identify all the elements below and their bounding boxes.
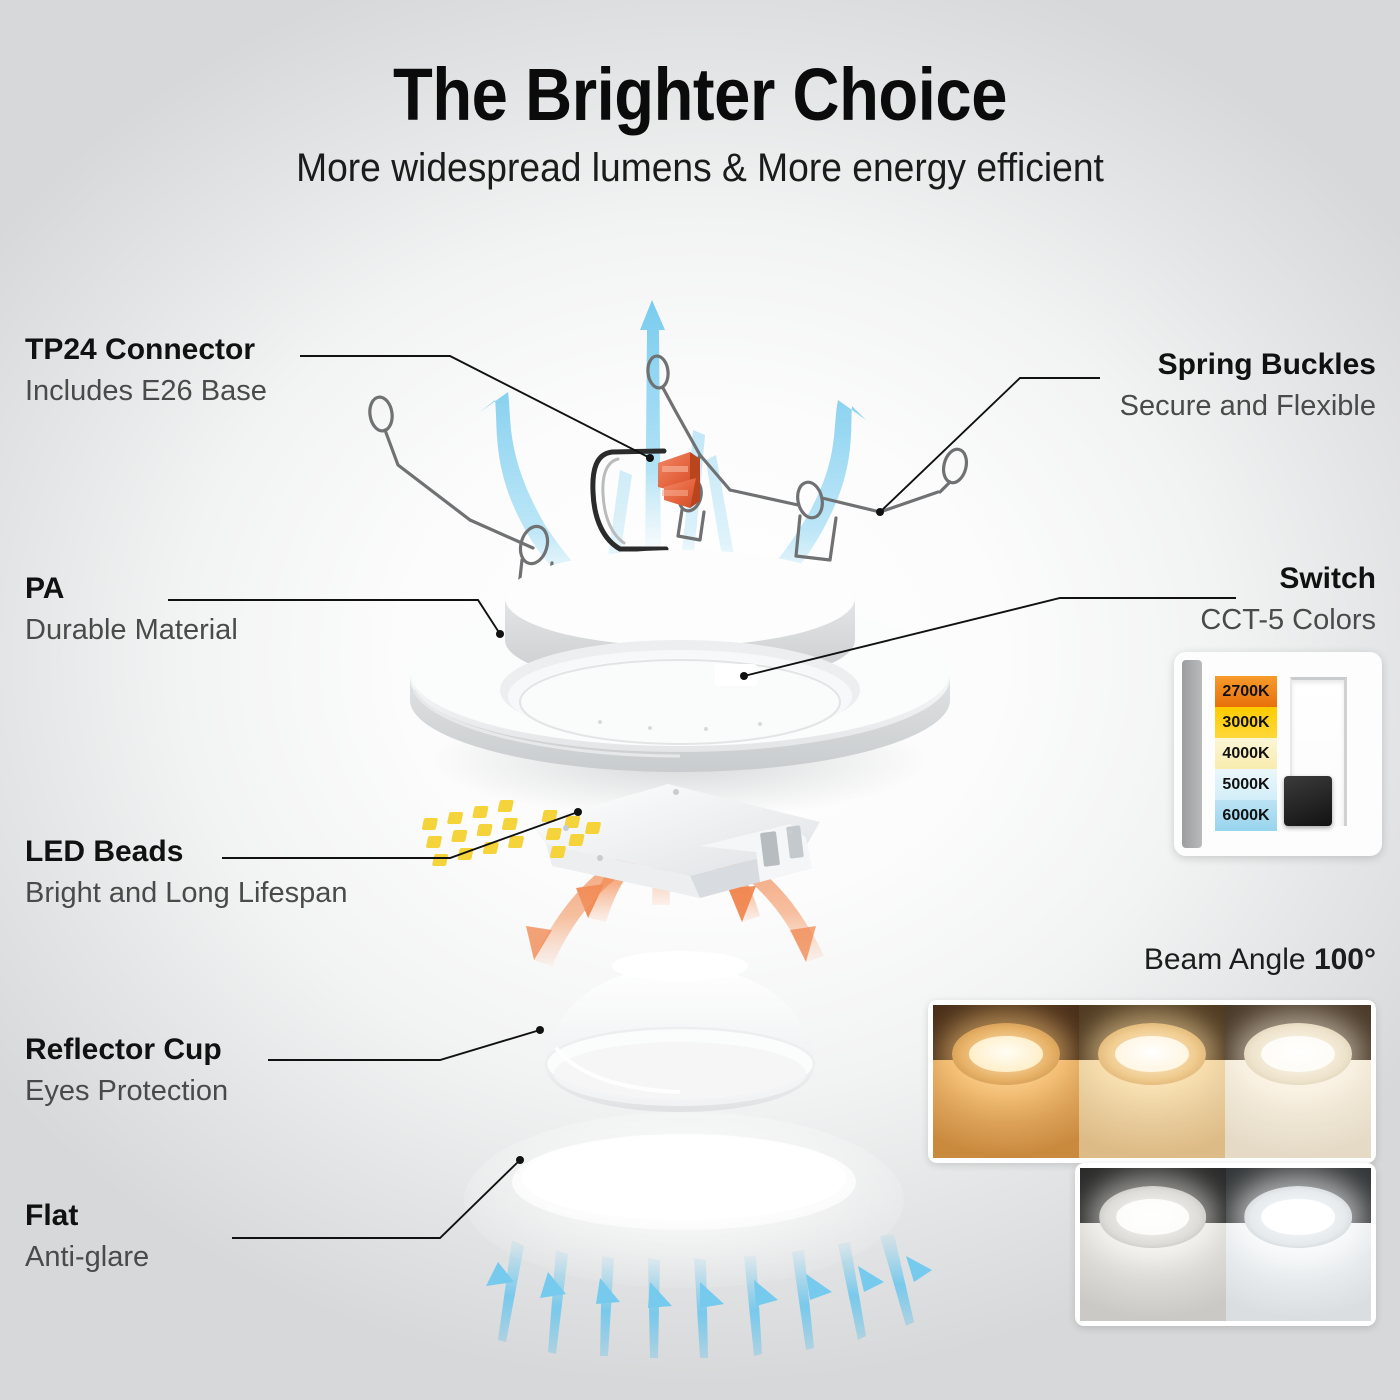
cct-option-label: 4000K xyxy=(1222,745,1269,763)
leader-line-spring xyxy=(880,378,1100,512)
beam-photo-2700k xyxy=(933,1005,1079,1158)
fixture xyxy=(952,1023,1060,1084)
fixture xyxy=(1099,1186,1207,1247)
callout-title: Flat xyxy=(25,1199,149,1233)
callout-subtitle: Durable Material xyxy=(25,613,238,648)
cct-option-label: 3000K xyxy=(1222,714,1269,732)
callout-flat: Flat Anti-glare xyxy=(25,1199,149,1274)
callout-title: LED Beads xyxy=(25,835,347,869)
callout-pa: PA Durable Material xyxy=(25,572,238,647)
beam-photo-3000k xyxy=(1079,1005,1225,1158)
fixture xyxy=(1244,1023,1352,1084)
beam-photos-cool-row xyxy=(1075,1163,1376,1326)
beam-photos-warm-row xyxy=(928,1000,1376,1163)
infographic-canvas: The Brighter Choice More widespread lume… xyxy=(0,0,1400,1400)
leader-line-flat xyxy=(232,1160,520,1238)
callout-spring-buckles: Spring Buckles Secure and Flexible xyxy=(1120,348,1376,423)
cct-option-5000k[interactable]: 5000K xyxy=(1215,769,1277,800)
beam-angle-label: Beam Angle xyxy=(1144,943,1314,976)
cct-option-3000k[interactable]: 3000K xyxy=(1215,707,1277,738)
callout-title: Reflector Cup xyxy=(25,1033,228,1067)
leader-line-switch xyxy=(744,598,1236,676)
callout-led-beads: LED Beads Bright and Long Lifespan xyxy=(25,835,347,910)
callout-title: PA xyxy=(25,572,238,606)
callout-subtitle: Bright and Long Lifespan xyxy=(25,876,347,911)
callout-subtitle: Includes E26 Base xyxy=(25,374,267,409)
callout-title: Switch xyxy=(1200,562,1376,596)
callout-tp24-connector: TP24 Connector Includes E26 Base xyxy=(25,333,267,408)
fixture xyxy=(1098,1023,1206,1084)
leader-line-reflector xyxy=(268,1030,540,1060)
cct-option-list: 2700K 3000K 4000K 5000K 6000K xyxy=(1215,676,1277,831)
cct-switch-panel[interactable]: 2700K 3000K 4000K 5000K 6000K xyxy=(1174,652,1382,856)
leader-line-tp24 xyxy=(300,356,650,458)
fixture xyxy=(1244,1186,1352,1247)
switch-slider-knob[interactable] xyxy=(1284,776,1332,826)
cct-option-label: 6000K xyxy=(1222,807,1269,825)
beam-photo-5000k xyxy=(1080,1168,1226,1321)
cct-option-6000k[interactable]: 6000K xyxy=(1215,800,1277,831)
cct-option-label: 2700K xyxy=(1222,683,1269,701)
switch-body-spine xyxy=(1182,660,1202,848)
beam-angle-value: 100° xyxy=(1314,943,1376,976)
cct-option-label: 5000K xyxy=(1222,776,1269,794)
beam-angle-caption: Beam Angle 100° xyxy=(1144,943,1376,977)
callout-switch: Switch CCT-5 Colors xyxy=(1200,562,1376,637)
callout-reflector-cup: Reflector Cup Eyes Protection xyxy=(25,1033,228,1108)
callout-title: TP24 Connector xyxy=(25,333,267,367)
cct-option-2700k[interactable]: 2700K xyxy=(1215,676,1277,707)
callout-subtitle: CCT-5 Colors xyxy=(1200,603,1376,638)
cct-option-4000k[interactable]: 4000K xyxy=(1215,738,1277,769)
callout-subtitle: Anti-glare xyxy=(25,1240,149,1275)
callout-subtitle: Secure and Flexible xyxy=(1120,389,1376,424)
callout-subtitle: Eyes Protection xyxy=(25,1074,228,1109)
beam-photo-6000k xyxy=(1226,1168,1372,1321)
beam-photo-4000k xyxy=(1225,1005,1371,1158)
callout-title: Spring Buckles xyxy=(1120,348,1376,382)
